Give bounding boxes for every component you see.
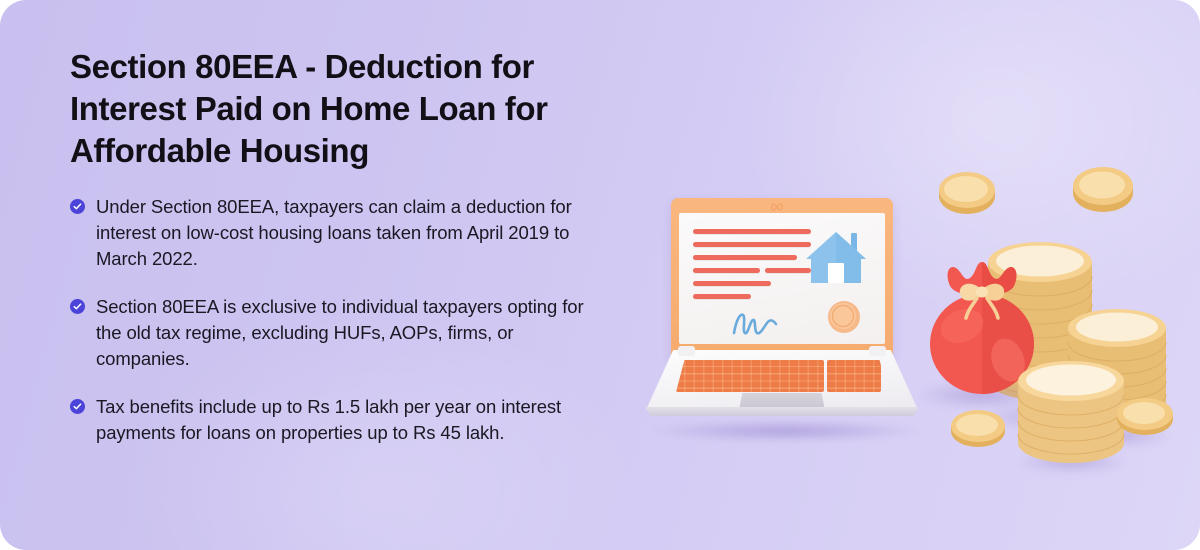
text-column: Section 80EEA - Deduction for Interest P…	[70, 46, 630, 446]
home-loan-illustration	[618, 0, 1200, 550]
document-line	[693, 255, 797, 260]
list-item-label: Section 80EEA is exclusive to individual…	[96, 294, 601, 372]
signature-icon	[731, 309, 779, 339]
floating-coin-left	[936, 168, 998, 218]
keyboard-numpad-keys	[827, 360, 881, 392]
page-title: Section 80EEA - Deduction for Interest P…	[70, 46, 590, 172]
coin-stack-short	[1012, 356, 1130, 480]
floating-coin-right	[1070, 162, 1136, 216]
laptop-base-edge	[646, 407, 918, 416]
laptop-hinge-right	[869, 346, 886, 356]
laptop-lid	[671, 198, 893, 356]
document-line	[693, 294, 751, 299]
bullet-list: Under Section 80EEA, taxpayers can claim…	[70, 194, 630, 446]
list-item-label: Under Section 80EEA, taxpayers can claim…	[96, 194, 601, 272]
laptop-shadow	[652, 420, 920, 442]
loose-coin-front-left	[948, 404, 1008, 450]
list-item-label: Tax benefits include up to Rs 1.5 lakh p…	[96, 394, 601, 446]
document-line	[693, 242, 811, 247]
check-circle-icon	[70, 399, 85, 414]
list-item: Section 80EEA is exclusive to individual…	[70, 294, 630, 372]
banner: Section 80EEA - Deduction for Interest P…	[0, 0, 1200, 550]
check-circle-icon	[70, 199, 85, 214]
document-line	[693, 229, 811, 234]
infinity-logo-icon	[769, 201, 795, 213]
loose-coin-front-right	[1114, 392, 1176, 438]
laptop-hinge-left	[678, 346, 695, 356]
house-icon	[803, 227, 869, 289]
list-item: Tax benefits include up to Rs 1.5 lakh p…	[70, 394, 630, 446]
list-item: Under Section 80EEA, taxpayers can claim…	[70, 194, 630, 272]
document-line	[693, 281, 771, 286]
keyboard-main-keys	[676, 360, 824, 392]
document-line	[693, 268, 760, 273]
check-circle-icon	[70, 299, 85, 314]
laptop-base	[646, 350, 918, 420]
seal-stamp-icon	[826, 299, 862, 335]
laptop-keyboard	[676, 360, 888, 392]
laptop-screen	[679, 213, 885, 344]
laptop-icon	[646, 198, 918, 450]
